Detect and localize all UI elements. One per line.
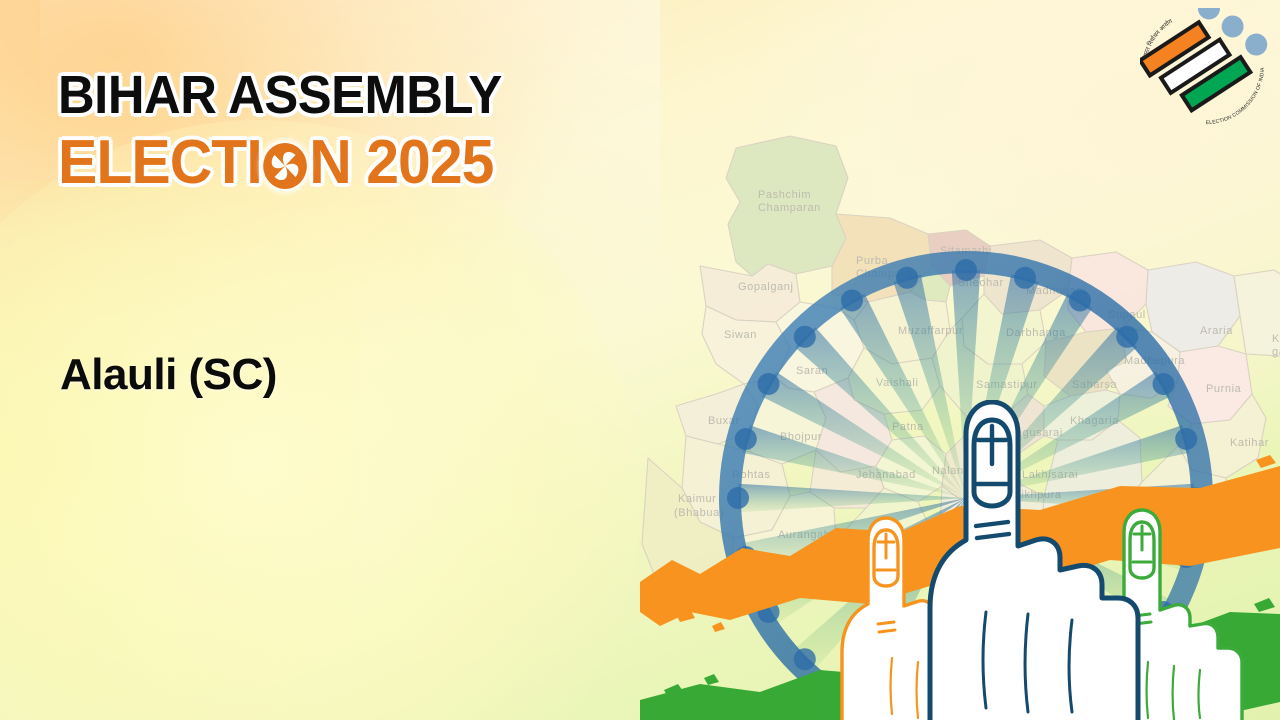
map-label-saran: Saran: [796, 365, 828, 377]
map-label-aurangabad: Aurangabad: [778, 529, 844, 541]
map-label-siwan: Siwan: [724, 329, 757, 341]
map-label-lakhisarai: Lakhisarai: [1022, 469, 1078, 481]
map-label-nalanda: Nalanda: [932, 465, 977, 477]
map-label-kishan: Kishan-: [1272, 333, 1280, 345]
banner-title-block: BIHAR ASSEMBLY ELECTI N 2025: [58, 68, 530, 194]
map-label-sheohar: Sheohar: [958, 277, 1004, 289]
map-label-purba: Purba: [856, 255, 889, 267]
map-label-khagaria: Khagaria: [1070, 415, 1119, 427]
map-label-darbhanga: Darbhanga: [1006, 327, 1066, 339]
map-label-katihar: Katihar: [1230, 437, 1269, 449]
bihar-district-map: PashchimChamparanPurbaChamparanGopalganj…: [640, 86, 1280, 646]
map-label-saharsa: Saharsa: [1072, 379, 1117, 391]
election-commission-of-india-logo: ELECTION COMMISSION OF INDIA भारत निर्वा…: [1140, 8, 1272, 126]
map-label-bhabua: (Bhabua): [674, 507, 724, 519]
map-label-kaimur: Kaimur: [678, 493, 716, 505]
map-label-begusarai: Begusarai: [1008, 427, 1063, 439]
title-line-2: ELECTI N 2025: [58, 131, 506, 194]
map-label-pashchim: Pashchim: [758, 189, 811, 201]
map-label-jehanabad: Jehanabad: [856, 469, 916, 481]
map-label-madhepura: Madhepura: [1124, 355, 1185, 367]
map-label-bhojpur: Bhojpur: [780, 431, 822, 443]
map-label-muzaffarpur: Muzaffarpur: [898, 325, 963, 337]
map-label-madhubani: Madhubani: [1026, 285, 1086, 297]
map-label-champaran: Champaran: [758, 202, 821, 214]
map-label-buxar: Buxar: [708, 415, 740, 427]
map-label-gopalganj: Gopalganj: [738, 281, 794, 293]
map-label-patna: Patna: [892, 421, 924, 433]
map-label-sheikhpura: Sheikhpura: [1000, 489, 1062, 501]
map-label-sitamarhi: Sitamarhi: [940, 245, 992, 257]
map-label-purnia: Purnia: [1206, 383, 1242, 395]
map-label-ganj: ganj: [1272, 346, 1280, 358]
election-banner: PashchimChamparanPurbaChamparanGopalganj…: [0, 0, 1280, 720]
title-line-2-prefix: ELECTI: [58, 131, 262, 194]
map-label-vaishali: Vaishali: [876, 377, 919, 389]
map-label-araria: Araria: [1200, 325, 1233, 337]
map-label-supaul: Supaul: [1108, 309, 1146, 321]
map-label-samastipur: Samastipur: [976, 379, 1038, 391]
title-line-1: BIHAR ASSEMBLY: [58, 68, 502, 123]
map-label-champaran: Champaran: [856, 268, 919, 280]
ballot-pinwheel-icon: [263, 142, 309, 190]
map-label-rohtas: Rohtas: [732, 469, 770, 481]
constituency-name: Alauli (SC): [60, 350, 277, 400]
title-line-2-suffix: N 2025: [309, 131, 493, 194]
